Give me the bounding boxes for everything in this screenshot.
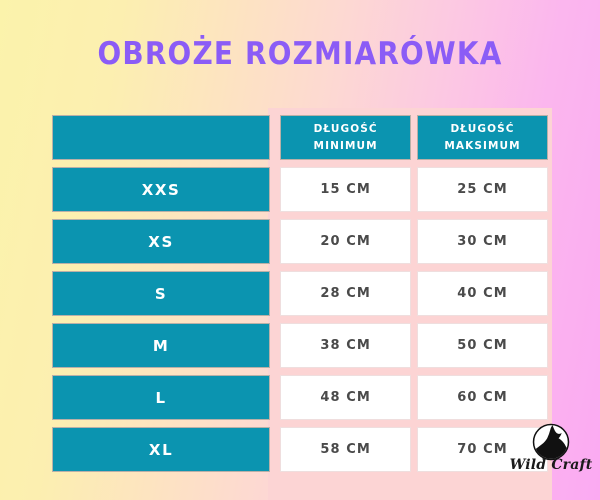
size-label: M: [52, 323, 270, 368]
table-header-row: DŁUGOŚĆ MINIMUM DŁUGOŚĆ MAKSIMUM: [52, 115, 548, 167]
length-minimum-value: 48 CM: [280, 375, 411, 420]
table-row: XS 20 CM 30 CM: [52, 219, 548, 271]
header-length-maksimum-line1: DŁUGOŚĆ: [450, 121, 514, 137]
howling-wolf-circle-icon: [532, 423, 570, 461]
length-minimum-value: 58 CM: [280, 427, 411, 472]
brand-logo: Wild Craft: [505, 423, 597, 485]
length-minimum-value: 15 CM: [280, 167, 411, 212]
table-row: XXS 15 CM 25 CM: [52, 167, 548, 219]
size-label: XS: [52, 219, 270, 264]
table-row: M 38 CM 50 CM: [52, 323, 548, 375]
size-label: XXS: [52, 167, 270, 212]
length-maksimum-value: 30 CM: [417, 219, 548, 264]
length-maksimum-value: 40 CM: [417, 271, 548, 316]
size-label: L: [52, 375, 270, 420]
header-length-minimum: DŁUGOŚĆ MINIMUM: [280, 115, 411, 160]
table-row: S 28 CM 40 CM: [52, 271, 548, 323]
brand-name: Wild Craft: [505, 457, 597, 473]
header-length-minimum-line2: MINIMUM: [314, 138, 378, 154]
header-size-column: [52, 115, 270, 160]
length-minimum-value: 28 CM: [280, 271, 411, 316]
size-label: S: [52, 271, 270, 316]
length-maksimum-value: 60 CM: [417, 375, 548, 420]
header-length-maksimum: DŁUGOŚĆ MAKSIMUM: [417, 115, 548, 160]
length-maksimum-value: 50 CM: [417, 323, 548, 368]
header-length-minimum-line1: DŁUGOŚĆ: [314, 121, 378, 137]
table-row: XL 58 CM 70 CM: [52, 427, 548, 479]
length-minimum-value: 38 CM: [280, 323, 411, 368]
header-length-maksimum-line2: MAKSIMUM: [444, 138, 520, 154]
length-maksimum-value: 25 CM: [417, 167, 548, 212]
length-minimum-value: 20 CM: [280, 219, 411, 264]
page-title: OBROŻE ROZMIARÓWKA: [0, 36, 600, 72]
table-row: L 48 CM 60 CM: [52, 375, 548, 427]
size-chart-table: DŁUGOŚĆ MINIMUM DŁUGOŚĆ MAKSIMUM XXS 15 …: [52, 115, 548, 479]
size-label: XL: [52, 427, 270, 472]
